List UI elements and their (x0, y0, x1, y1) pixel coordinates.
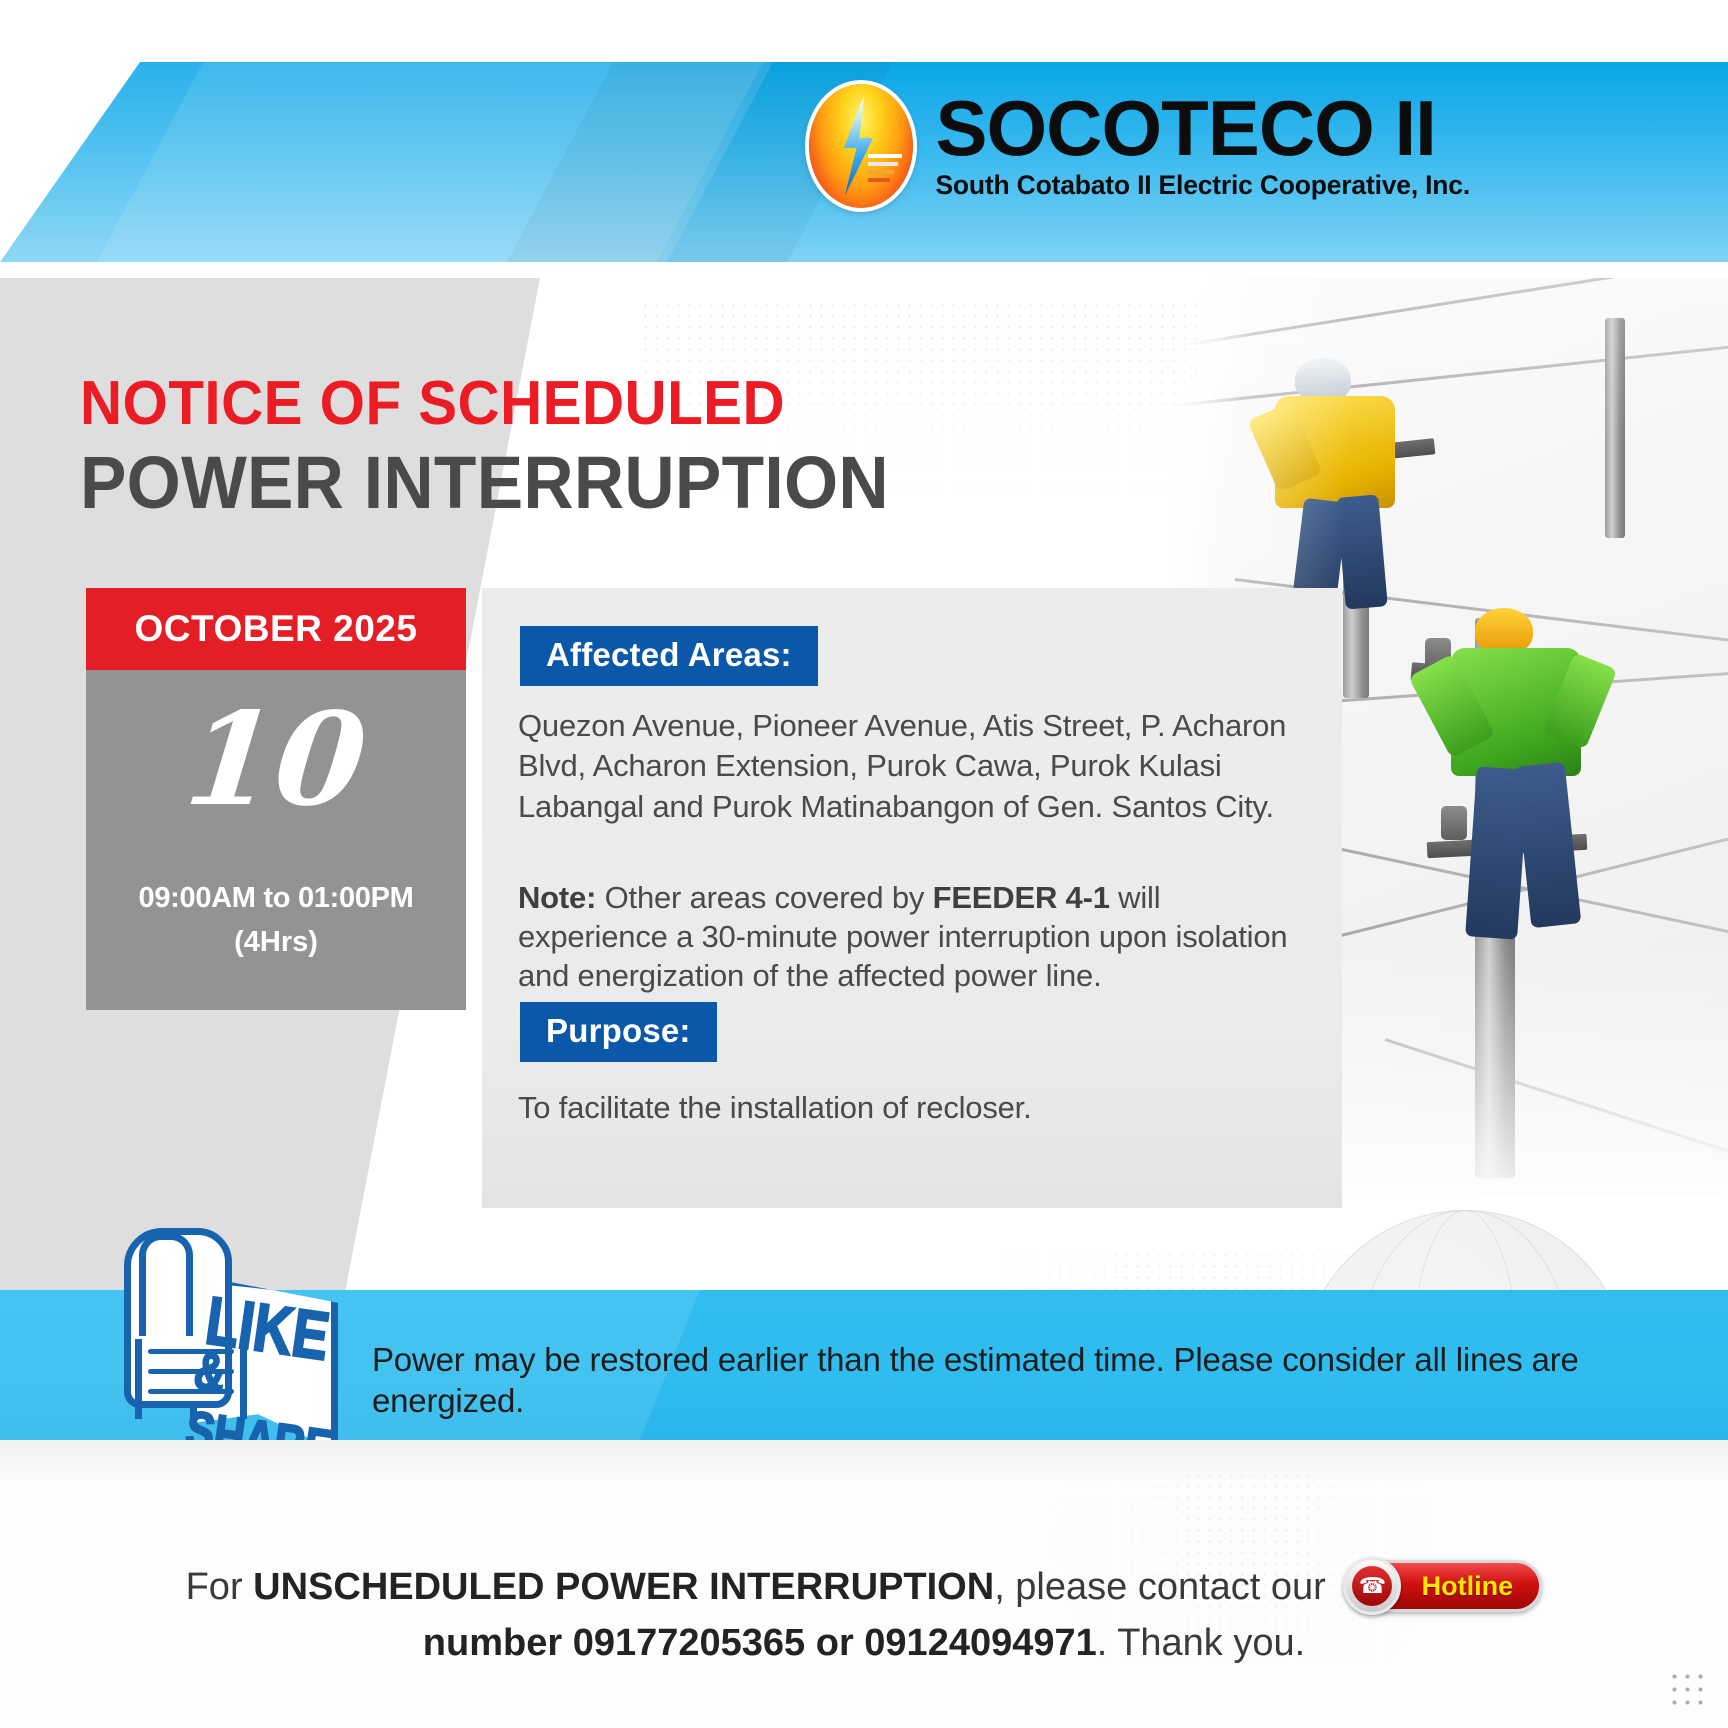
footer-contact: For UNSCHEDULED POWER INTERRUPTION, plea… (0, 1560, 1728, 1669)
brand-tagline: South Cotabato II Electric Cooperative, … (935, 170, 1470, 201)
corner-dots-decoration (1668, 1670, 1710, 1712)
hotline-label: Hotline (1405, 1563, 1529, 1609)
brand-text: SOCOTECO II South Cotabato II Electric C… (935, 91, 1470, 200)
logo-bars (868, 154, 904, 186)
schedule-date-box: OCTOBER 2025 10 09:00AM to 01:00PM (4Hrs… (86, 588, 466, 1010)
thumbs-up-icon[interactable]: LIKE & SHARE (118, 1228, 318, 1458)
note-text: Note: Other areas covered by FEEDER 4-1 … (518, 878, 1308, 995)
page-title: POWER INTERRUPTION (80, 440, 889, 525)
lightning-bolt-icon (809, 84, 913, 208)
footer-middle: , please contact our (994, 1566, 1336, 1608)
notice-kicker: NOTICE OF SCHEDULED (80, 368, 785, 439)
phone-icon: ☎ (1343, 1557, 1401, 1615)
purpose-label: Purpose: (520, 1002, 717, 1062)
banner-message: Power may be restored earlier than the e… (372, 1339, 1652, 1422)
note-part-1: Other areas covered by (596, 880, 932, 915)
note-prefix: Note: (518, 880, 596, 915)
footer-emphasis-1: UNSCHEDULED POWER INTERRUPTION (253, 1566, 994, 1608)
affected-areas-label: Affected Areas: (520, 626, 818, 686)
schedule-month: OCTOBER 2025 (86, 588, 466, 670)
footer-lead: For (186, 1566, 254, 1608)
brand-logo: SOCOTECO II South Cotabato II Electric C… (809, 84, 1470, 208)
schedule-duration: (4Hrs) (86, 926, 466, 959)
schedule-body: 10 09:00AM to 01:00PM (4Hrs) (86, 670, 466, 1010)
brand-name: SOCOTECO II (935, 91, 1470, 165)
affected-areas-text: Quezon Avenue, Pioneer Avenue, Atis Stre… (518, 706, 1308, 827)
footer-top-tint (0, 1440, 1728, 1480)
schedule-day: 10 (79, 696, 472, 824)
note-feeder: FEEDER 4-1 (933, 880, 1110, 915)
brand-header: SOCOTECO II South Cotabato II Electric C… (0, 62, 1728, 262)
footer-emphasis-2: number 09177205365 or 09124094971 (423, 1622, 1097, 1664)
hotline-badge[interactable]: ☎ Hotline (1346, 1560, 1542, 1612)
details-card: Affected Areas: Quezon Avenue, Pioneer A… (482, 588, 1342, 1208)
purpose-text: To facilitate the installation of reclos… (518, 1088, 1308, 1128)
schedule-time-range: 09:00AM to 01:00PM (86, 882, 466, 915)
footer-tail: . Thank you. (1097, 1622, 1305, 1664)
